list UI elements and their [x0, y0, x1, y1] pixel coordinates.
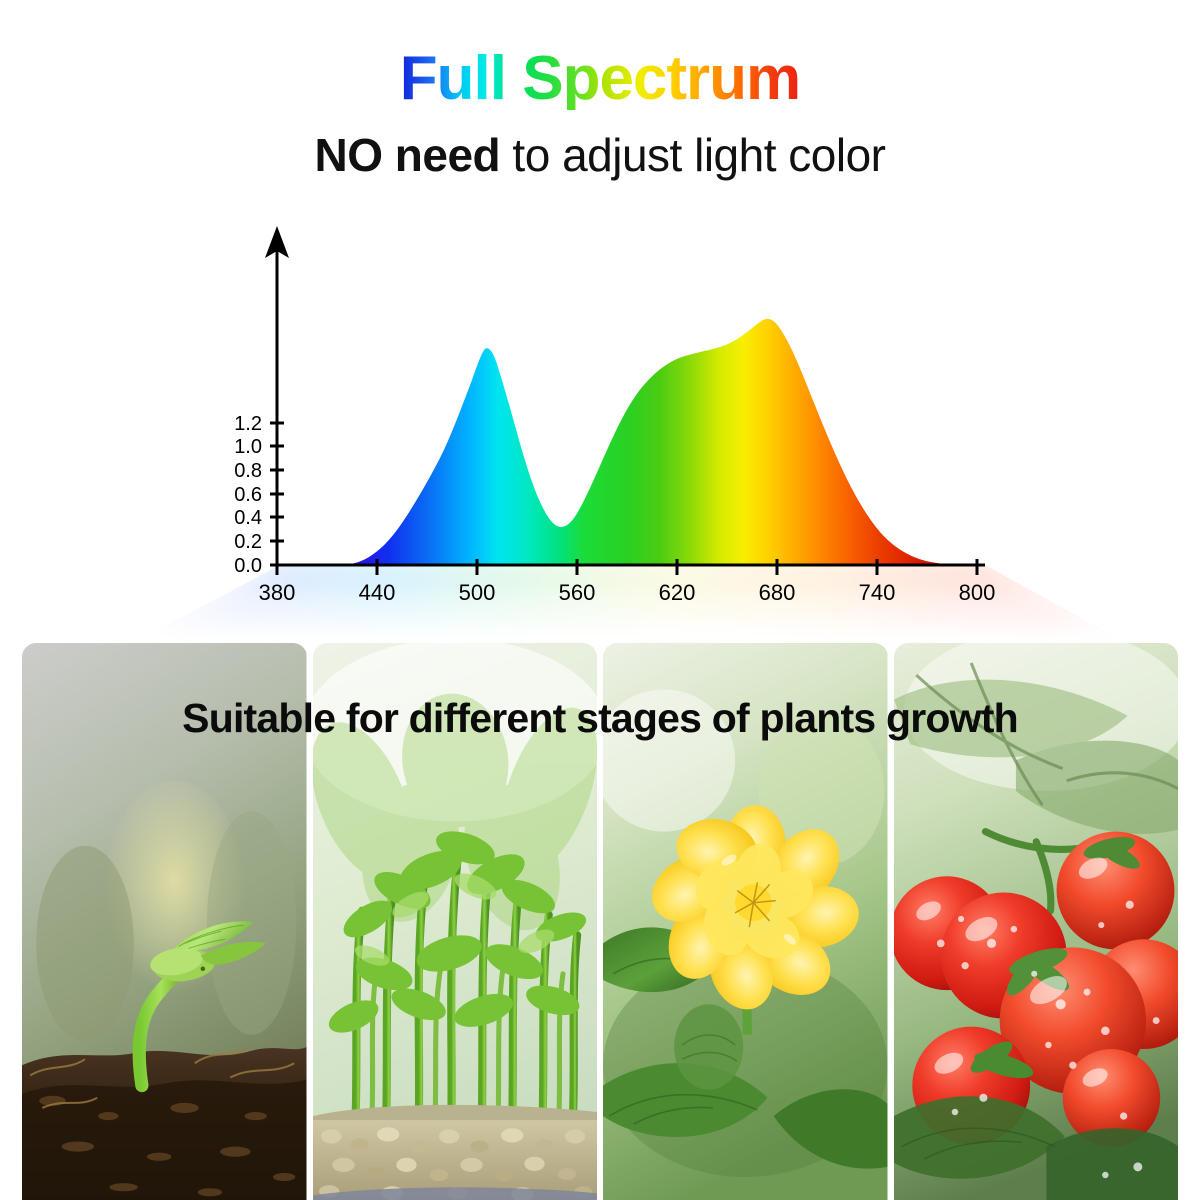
photo-panel-seedling-sprout [22, 643, 307, 1200]
seedling-sprout-image [22, 643, 307, 1200]
y-axis [265, 226, 289, 566]
x-tick-label: 680 [759, 580, 796, 605]
x-tick-label: 500 [459, 580, 496, 605]
plant-stage-photo-strip [0, 643, 1200, 1200]
x-tick-label: 620 [659, 580, 696, 605]
yellow-flower-image [603, 643, 888, 1200]
y-tick-label: 0.2 [234, 531, 262, 553]
y-tick-label: 0.4 [234, 507, 262, 529]
subtitle-bold-part: NO need [315, 129, 501, 181]
photo-panel-ripe-tomatoes [894, 643, 1179, 1200]
spectrum-curve [277, 319, 977, 565]
subtitle-regular-part: to adjust light color [500, 129, 885, 181]
x-axis-labels: 380 440 500 560 620 680 740 800 [259, 580, 996, 605]
y-tick-label: 0.0 [234, 555, 262, 577]
y-tick-label: 1.0 [234, 436, 262, 458]
page-subtitle: NO need to adjust light color [0, 110, 1200, 178]
x-tick-label: 440 [359, 580, 396, 605]
y-tick-label: 0.6 [234, 484, 262, 506]
x-tick-label: 740 [859, 580, 896, 605]
young-plants-image [313, 643, 598, 1200]
photo-panel-yellow-flower [603, 643, 888, 1200]
x-tick-label: 380 [259, 580, 296, 605]
ripe-tomatoes-image [894, 643, 1179, 1200]
y-tick-label: 0.8 [234, 460, 262, 482]
header-block: Full Spectrum NO need to adjust light co… [0, 0, 1200, 178]
x-tick-label: 560 [559, 580, 596, 605]
photo-panel-young-plants [313, 643, 598, 1200]
x-tick-label: 800 [959, 580, 996, 605]
y-tick-label: 1.2 [234, 413, 262, 435]
y-axis-labels: 0.0 0.2 0.4 0.6 0.8 1.0 1.2 [234, 413, 262, 577]
spectrum-chart: 0.0 0.2 0.4 0.6 0.8 1.0 1.2 380 440 500 … [0, 210, 1200, 640]
page-title: Full Spectrum [400, 0, 800, 110]
